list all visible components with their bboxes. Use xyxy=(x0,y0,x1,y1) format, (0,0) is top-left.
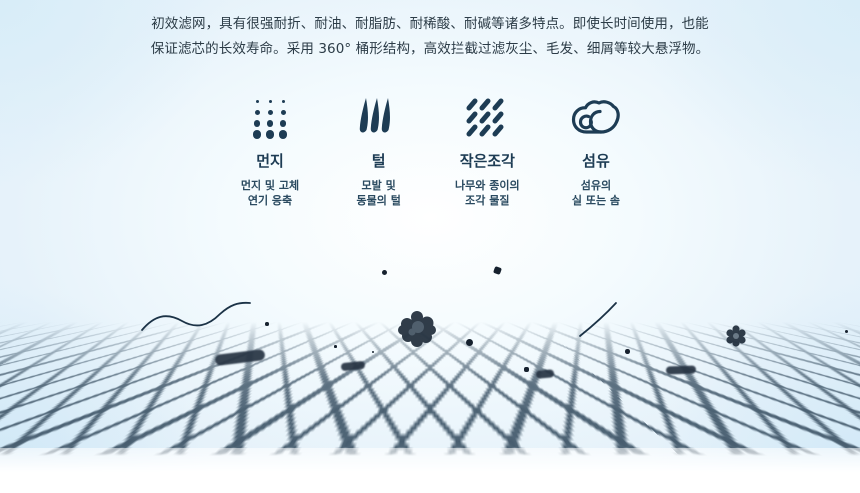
dust-speck xyxy=(845,330,848,333)
card-subtitle-line-2: 조각 물질 xyxy=(435,193,539,208)
dust-speck xyxy=(524,367,529,372)
lint-capsule-center xyxy=(341,361,366,371)
card-title: 섬유 xyxy=(544,152,648,170)
intro-line-2: 保证滤芯的长效寿命。采用 360° 桶形结构，高效拦截过滤灰尘、毛发、细屑等较大… xyxy=(0,37,860,62)
card-subtitle-line-1: 섬유의 xyxy=(544,178,648,193)
intro-paragraph: 初效滤网，具有很强耐折、耐油、耐脂肪、耐稀酸、耐碱等诸多特点。即使长时间使用，也… xyxy=(0,12,860,62)
filter-mesh xyxy=(0,322,860,456)
intro-line-1: 初效滤网，具有很强耐折、耐油、耐脂肪、耐稀酸、耐碱等诸多特点。即使长时间使用，也… xyxy=(0,12,860,37)
dust-speck xyxy=(625,349,630,354)
card-subtitle-line-2: 연기 응축 xyxy=(218,193,322,208)
card-subtitle-line-1: 먼지 및 고체 xyxy=(218,178,322,193)
card-subtitle-line-1: 나무와 종이의 xyxy=(435,178,539,193)
dust-speck xyxy=(382,270,387,275)
fuzz-cluster-large xyxy=(396,308,438,350)
dust-dots-icon xyxy=(218,92,322,140)
lint-capsule-left xyxy=(215,349,266,366)
fiber-cloud-icon xyxy=(544,92,648,140)
hair-strand-curved-right xyxy=(578,300,638,340)
card-subtitle-line-2: 실 또는 솜 xyxy=(544,193,648,208)
product-feature-illustration: 初效滤网，具有很强耐折、耐油、耐脂肪、耐稀酸、耐碱等诸多特点。即使长时间使用，也… xyxy=(0,0,860,493)
dust-speck xyxy=(334,345,337,348)
card-hair: 털 모발 및 동물의 털 xyxy=(327,92,431,208)
card-subtitle-line-1: 모발 및 xyxy=(327,178,431,193)
fuzz-cluster-small-right xyxy=(724,324,748,348)
card-title: 먼지 xyxy=(218,152,322,170)
lint-capsule-mid xyxy=(536,369,555,379)
hair-strand-wavy-left xyxy=(140,300,270,336)
card-title: 작은조각 xyxy=(435,152,539,170)
particle-type-cards: 먼지 먼지 및 고체 연기 응축 털 모발 및 동물의 털 xyxy=(218,92,648,208)
hair-strands-icon xyxy=(327,92,431,140)
dust-speck xyxy=(466,339,473,346)
dust-speck xyxy=(493,266,502,275)
card-dust: 먼지 먼지 및 고체 연기 응축 xyxy=(218,92,322,208)
mesh-bottom-fade xyxy=(0,448,860,493)
lint-capsule-right xyxy=(666,365,696,374)
card-subtitle-line-2: 동물의 털 xyxy=(327,193,431,208)
dust-speck xyxy=(265,322,269,326)
dust-speck xyxy=(372,351,374,353)
card-fiber: 섬유 섬유의 실 또는 솜 xyxy=(544,92,648,208)
small-particles-icon xyxy=(435,92,539,140)
debris-layer xyxy=(0,0,860,493)
card-title: 털 xyxy=(327,152,431,170)
background-gradient xyxy=(0,0,860,493)
card-small-pieces: 작은조각 나무와 종이의 조각 물질 xyxy=(435,92,539,208)
